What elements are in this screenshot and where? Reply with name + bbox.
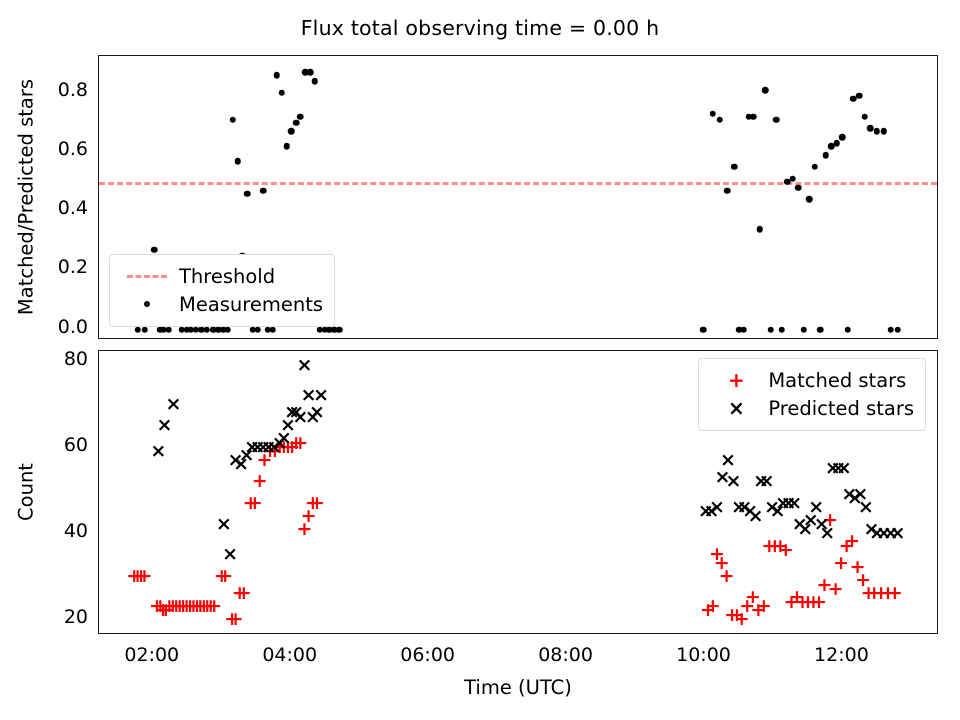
data-point-matched-star: + [270, 438, 290, 458]
data-point-measurement [801, 326, 808, 333]
data-point-measurement [316, 326, 323, 333]
data-point-predicted-star: × [264, 438, 284, 458]
data-point-matched-star: + [299, 507, 319, 527]
data-point-matched-star: + [190, 597, 210, 617]
data-point-measurement [220, 326, 227, 333]
data-point-matched-star: + [153, 601, 173, 621]
x-tick-label: 04:00 [240, 644, 340, 666]
legend-item-threshold: Threshold [121, 262, 323, 290]
data-point-measurement [230, 116, 237, 123]
ratio-plot-axes: Threshold Measurements [98, 55, 938, 339]
data-point-predicted-star: × [253, 438, 273, 458]
x-tick-label: 10:00 [654, 644, 754, 666]
data-point-matched-star: + [150, 597, 170, 617]
data-point-measurement [250, 326, 257, 333]
data-point-predicted-star: × [226, 451, 246, 471]
data-point-matched-star: + [859, 584, 879, 604]
data-point-measurement [274, 72, 281, 79]
data-point-measurement [823, 152, 830, 159]
data-point-measurement [157, 326, 164, 333]
data-point-predicted-star: × [867, 524, 887, 544]
data-point-matched-star: + [809, 593, 829, 613]
data-point-predicted-star: × [155, 416, 175, 436]
x-tick-label: 12:00 [791, 644, 891, 666]
data-point-measurement [187, 326, 194, 333]
data-point-predicted-star: × [701, 502, 721, 522]
data-point-predicted-star: × [718, 451, 738, 471]
data-point-matched-star: + [163, 597, 183, 617]
data-point-matched-star: + [234, 584, 254, 604]
data-point-matched-star: + [848, 558, 868, 578]
data-point-measurement [700, 326, 707, 333]
data-point-measurement [773, 116, 780, 123]
data-point-measurement [867, 125, 874, 132]
data-point-measurement [736, 326, 743, 333]
data-point-predicted-star: × [806, 498, 826, 518]
data-point-matched-star: + [885, 584, 905, 604]
data-point-predicted-star: × [231, 455, 251, 475]
data-point-predicted-star: × [845, 489, 865, 509]
data-point-measurement [179, 326, 186, 333]
data-point-measurement [260, 187, 267, 194]
data-point-matched-star: + [201, 597, 221, 617]
data-point-measurement [894, 326, 901, 333]
data-point-matched-star: + [732, 610, 752, 630]
data-point-predicted-star: × [856, 498, 876, 518]
data-point-matched-star: + [255, 451, 275, 471]
data-point-measurement [710, 110, 717, 117]
count-plot-legend: + Matched stars × Predicted stars [698, 358, 926, 431]
y-tick-mark [98, 447, 99, 449]
data-point-predicted-star: × [220, 545, 240, 565]
data-point-matched-star: + [864, 584, 884, 604]
data-point-matched-star: + [173, 597, 193, 617]
data-point-predicted-star: × [784, 494, 804, 514]
data-point-matched-star: + [230, 584, 250, 604]
data-point-predicted-star: × [768, 502, 788, 522]
data-point-matched-star: + [781, 593, 801, 613]
data-point-matched-star: + [307, 494, 327, 514]
data-point-measurement [321, 326, 328, 333]
data-point-matched-star: + [759, 537, 779, 557]
data-point-matched-star: + [803, 593, 823, 613]
data-point-measurement [198, 326, 205, 333]
ratio-plot-legend: Threshold Measurements [109, 254, 335, 327]
data-point-predicted-star: × [303, 408, 323, 428]
y-tick-mark [98, 151, 99, 153]
y-tick-label: 40 [20, 520, 88, 542]
data-point-predicted-star: × [712, 468, 732, 488]
data-point-predicted-star: × [828, 459, 848, 479]
data-point-matched-star: + [194, 597, 214, 617]
plus-icon: + [710, 370, 762, 390]
data-point-measurement [724, 187, 731, 194]
data-point-matched-star: + [187, 597, 207, 617]
data-point-matched-star: + [166, 597, 186, 617]
data-point-matched-star: + [743, 588, 763, 608]
data-point-predicted-star: × [839, 485, 859, 505]
data-point-predicted-star: × [801, 511, 821, 531]
data-point-matched-star: + [798, 593, 818, 613]
data-point-predicted-star: × [707, 498, 727, 518]
y-tick-label: 60 [20, 434, 88, 456]
data-point-matched-star: + [135, 567, 155, 587]
data-point-matched-star: + [128, 567, 148, 587]
data-point-matched-star: + [159, 597, 179, 617]
data-point-measurement [203, 326, 210, 333]
data-point-matched-star: + [212, 567, 232, 587]
data-point-measurement [716, 116, 723, 123]
data-point-predicted-star: × [259, 438, 279, 458]
data-point-measurement [750, 113, 757, 120]
data-point-matched-star: + [295, 520, 315, 540]
data-point-matched-star: + [180, 597, 200, 617]
data-point-matched-star: + [177, 597, 197, 617]
data-point-measurement [856, 93, 863, 100]
data-point-matched-star: + [282, 438, 302, 458]
data-point-measurement [134, 326, 141, 333]
data-point-matched-star: + [265, 442, 285, 462]
data-point-predicted-star: × [735, 498, 755, 518]
data-point-predicted-star: × [888, 524, 908, 544]
data-point-measurement [874, 128, 881, 135]
data-point-matched-star: + [147, 597, 167, 617]
data-point-matched-star: + [722, 606, 742, 626]
data-point-predicted-star: × [274, 429, 294, 449]
data-point-measurement [210, 326, 217, 333]
data-point-matched-star: + [698, 601, 718, 621]
data-point-predicted-star: × [757, 472, 777, 492]
data-point-measurement [839, 134, 846, 141]
data-point-matched-star: + [241, 494, 261, 514]
y-tick-mark [98, 270, 99, 272]
data-point-predicted-star: × [779, 494, 799, 514]
data-point-measurement [215, 326, 222, 333]
data-point-measurement [756, 226, 763, 233]
data-point-matched-star: + [226, 610, 246, 630]
y-tick-mark [98, 619, 99, 621]
data-point-matched-star: + [878, 584, 898, 604]
data-point-matched-star: + [197, 597, 217, 617]
y-tick-mark [98, 211, 99, 213]
data-point-matched-star: + [831, 554, 851, 574]
data-point-measurement [141, 326, 148, 333]
data-point-predicted-star: × [751, 472, 771, 492]
data-point-measurement [331, 326, 338, 333]
x-tick-label: 06:00 [378, 644, 478, 666]
data-point-measurement [312, 78, 319, 85]
data-point-matched-star: + [290, 434, 310, 454]
data-point-matched-star: + [765, 537, 785, 557]
data-point-predicted-star: × [237, 446, 257, 466]
data-point-predicted-star: × [861, 520, 881, 540]
data-point-measurement [767, 326, 774, 333]
data-point-matched-star: + [712, 554, 732, 574]
data-point-predicted-star: × [290, 408, 310, 428]
data-point-matched-star: + [131, 567, 151, 587]
y-tick-label: 0.0 [20, 316, 88, 338]
data-point-predicted-star: × [248, 438, 268, 458]
data-point-matched-star: + [303, 494, 323, 514]
page-title: Flux total observing time = 0.00 h [0, 16, 960, 40]
data-point-matched-star: + [707, 545, 727, 565]
data-point-matched-star: + [278, 438, 298, 458]
data-point-measurement [850, 96, 857, 103]
data-point-matched-star: + [204, 597, 224, 617]
data-point-predicted-star: × [874, 524, 894, 544]
data-point-measurement [845, 326, 852, 333]
cross-icon: × [710, 398, 762, 418]
legend-label-measurements: Measurements [173, 293, 323, 316]
data-point-matched-star: + [222, 610, 242, 630]
data-point-measurement [861, 113, 868, 120]
data-point-measurement [795, 184, 802, 191]
legend-item-measurements: Measurements [121, 290, 323, 318]
data-point-measurement [234, 158, 241, 165]
dot-icon [121, 301, 173, 308]
data-point-matched-star: + [787, 588, 807, 608]
data-point-measurement [745, 113, 752, 120]
data-point-matched-star: + [727, 606, 747, 626]
legend-label-matched-stars: Matched stars [762, 369, 906, 392]
data-point-matched-star: + [156, 601, 176, 621]
data-point-measurement [806, 196, 813, 203]
legend-item-matched-stars: + Matched stars [710, 366, 914, 394]
data-point-matched-star: + [871, 584, 891, 604]
data-point-predicted-star: × [762, 498, 782, 518]
data-point-predicted-star: × [723, 472, 743, 492]
data-point-measurement [192, 326, 199, 333]
data-point-measurement [151, 247, 158, 254]
y-tick-mark [98, 361, 99, 363]
data-point-predicted-star: × [307, 403, 327, 423]
data-point-predicted-star: × [834, 459, 854, 479]
data-point-matched-star: + [776, 541, 796, 561]
data-point-measurement [326, 326, 333, 333]
data-point-measurement [881, 128, 888, 135]
data-point-matched-star: + [274, 438, 294, 458]
data-point-predicted-star: × [270, 434, 290, 454]
data-point-predicted-star: × [773, 494, 793, 514]
legend-item-predicted-stars: × Predicted stars [710, 394, 914, 422]
data-point-measurement [165, 326, 172, 333]
data-point-predicted-star: × [881, 524, 901, 544]
data-point-measurement [279, 90, 286, 97]
count-plot-axes: ++++++++++++++++++++++++++++++++++++++++… [98, 350, 938, 634]
data-point-measurement [741, 326, 748, 333]
data-point-predicted-star: × [311, 386, 331, 406]
data-point-matched-star: + [815, 576, 835, 596]
data-point-predicted-star: × [163, 395, 183, 415]
x-axis-label: Time (UTC) [98, 676, 938, 699]
data-point-predicted-star: × [850, 485, 870, 505]
data-point-matched-star: + [250, 472, 270, 492]
y-axis-label: Count [15, 463, 38, 521]
matplotlib-figure: Flux total observing time = 0.00 h Thres… [0, 0, 960, 720]
data-point-measurement [817, 326, 824, 333]
data-point-measurement [244, 190, 251, 197]
data-point-matched-star: + [792, 593, 812, 613]
y-tick-mark [98, 329, 99, 331]
data-point-predicted-star: × [795, 520, 815, 540]
data-point-matched-star: + [842, 532, 862, 552]
data-point-matched-star: + [215, 567, 235, 587]
data-point-predicted-star: × [790, 515, 810, 535]
data-point-measurement [828, 143, 835, 150]
x-tick-label: 08:00 [516, 644, 616, 666]
data-point-measurement [779, 326, 786, 333]
data-point-matched-star: + [183, 597, 203, 617]
data-point-matched-star: + [837, 537, 857, 557]
data-point-matched-star: + [770, 537, 790, 557]
data-point-matched-star: + [853, 571, 873, 591]
data-point-matched-star: + [245, 494, 265, 514]
data-point-measurement [731, 164, 738, 171]
data-point-predicted-star: × [696, 502, 716, 522]
data-point-matched-star: + [703, 597, 723, 617]
data-point-predicted-star: × [729, 498, 749, 518]
data-point-matched-star: + [124, 567, 144, 587]
data-point-predicted-star: × [148, 442, 168, 462]
y-tick-label: 80 [20, 348, 88, 370]
data-point-matched-star: + [737, 597, 757, 617]
data-point-measurement [302, 69, 309, 76]
y-tick-label: 20 [20, 606, 88, 628]
data-point-matched-star: + [170, 597, 190, 617]
data-point-predicted-star: × [295, 356, 315, 376]
data-point-matched-star: + [286, 434, 306, 454]
data-point-measurement [225, 326, 232, 333]
data-point-predicted-star: × [278, 416, 298, 436]
data-point-matched-star: + [754, 597, 774, 617]
data-point-predicted-star: × [740, 502, 760, 522]
data-point-measurement [288, 128, 295, 135]
y-tick-mark [98, 533, 99, 535]
data-point-measurement [812, 164, 819, 171]
data-point-predicted-star: × [299, 386, 319, 406]
data-point-measurement [307, 69, 314, 76]
data-point-predicted-star: × [746, 507, 766, 527]
dashed-line-icon [121, 275, 173, 278]
data-point-matched-star: + [826, 580, 846, 600]
data-point-predicted-star: × [812, 515, 832, 535]
y-tick-mark [98, 92, 99, 94]
data-point-predicted-star: × [817, 524, 837, 544]
legend-label-predicted-stars: Predicted stars [762, 397, 914, 420]
data-point-measurement [265, 326, 272, 333]
data-point-measurement [762, 87, 769, 94]
data-point-measurement [283, 143, 290, 150]
y-axis-label: Matched/Predicted stars [15, 79, 38, 315]
data-point-predicted-star: × [823, 459, 843, 479]
data-point-matched-star: + [820, 511, 840, 531]
data-point-predicted-star: × [286, 403, 306, 423]
data-point-measurement [254, 326, 261, 333]
data-point-measurement [336, 326, 343, 333]
data-point-matched-star: + [748, 601, 768, 621]
data-point-matched-star: + [260, 442, 280, 462]
threshold-line [99, 182, 937, 185]
data-point-measurement [297, 113, 304, 120]
data-point-measurement [293, 119, 300, 126]
data-point-measurement [161, 326, 168, 333]
x-tick-label: 02:00 [102, 644, 202, 666]
data-point-matched-star: + [717, 567, 737, 587]
data-point-measurement [887, 326, 894, 333]
data-point-measurement [270, 326, 277, 333]
legend-label-threshold: Threshold [173, 265, 275, 288]
data-point-predicted-star: × [282, 403, 302, 423]
data-point-predicted-star: × [242, 438, 262, 458]
data-point-measurement [183, 326, 190, 333]
data-point-measurement [834, 140, 841, 147]
data-point-predicted-star: × [214, 515, 234, 535]
